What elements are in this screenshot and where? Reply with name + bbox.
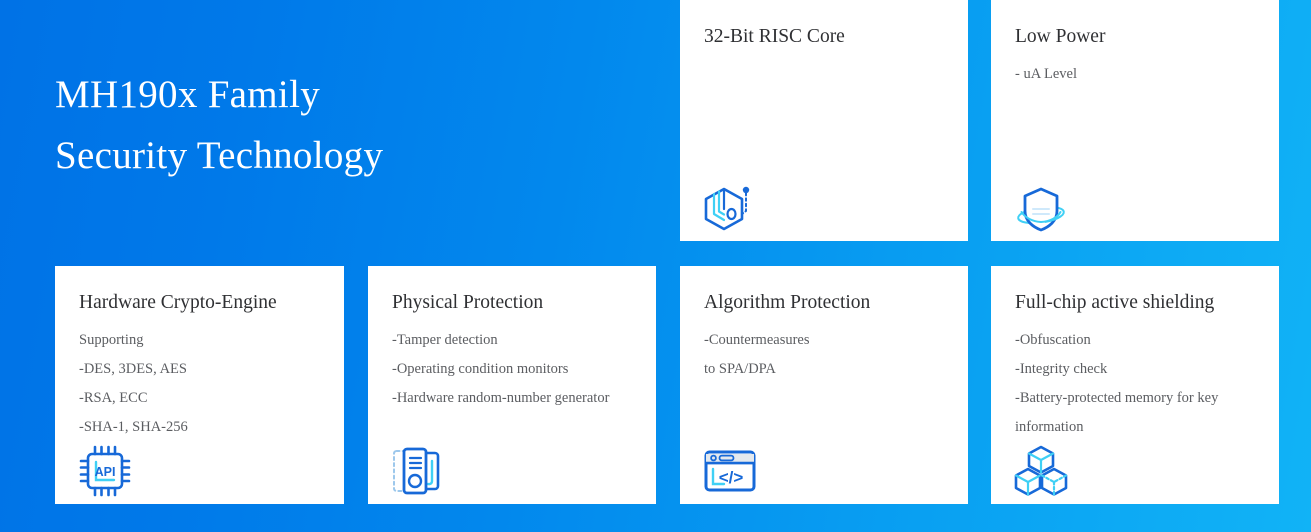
card-title: Hardware Crypto-Engine [79,290,277,316]
card-body-line: -Obfuscation [1015,326,1267,355]
card-body: Supporting -DES, 3DES, AES -RSA, ECC -SH… [79,326,332,442]
card-body-line: -RSA, ECC [79,384,332,413]
cubes-stack-icon [1013,443,1069,499]
card-title: Physical Protection [392,290,543,316]
hero-line-2: Security Technology [55,125,635,186]
card-body-line: Supporting [79,326,332,355]
card-body-line: -Battery-protected memory for key [1015,384,1267,413]
card-hardware-crypto-engine[interactable]: Hardware Crypto-Engine Supporting -DES, … [55,266,344,504]
card-title: Full-chip active shielding [1015,290,1214,316]
card-body-line: to SPA/DPA [704,355,956,384]
card-full-chip-active-shielding[interactable]: Full-chip active shielding -Obfuscation … [991,266,1279,504]
card-title: Low Power [1015,24,1105,50]
card-body-line: information [1015,413,1267,442]
document-card-icon [390,443,446,499]
code-window-icon: </> [702,443,758,499]
card-body-line: -Operating condition monitors [392,355,644,384]
api-chip-icon: API [77,443,133,499]
svg-text:API: API [95,465,116,479]
hero-heading: MH190x Family Security Technology [55,64,635,186]
card-body-line: -SHA-1, SHA-256 [79,413,332,442]
card-risc-core[interactable]: 32-Bit RISC Core [680,0,968,241]
card-physical-protection[interactable]: Physical Protection -Tamper detection -O… [368,266,656,504]
hero-line-1: MH190x Family [55,64,635,125]
card-body: -Countermeasures to SPA/DPA [704,326,956,384]
slide-canvas: MH190x Family Security Technology 32-Bit… [0,0,1311,532]
card-body: - uA Level [1015,60,1267,89]
svg-text:</>: </> [719,468,744,487]
card-body-line: -Countermeasures [704,326,956,355]
card-low-power[interactable]: Low Power - uA Level [991,0,1279,241]
card-title: Algorithm Protection [704,290,870,316]
card-body-line: -Integrity check [1015,355,1267,384]
shield-orbit-icon [1013,181,1069,237]
card-body: -Obfuscation -Integrity check -Battery-p… [1015,326,1267,442]
card-body: -Tamper detection -Operating condition m… [392,326,644,413]
card-body-line: -Hardware random-number generator [392,384,644,413]
box-3d-icon [702,181,758,237]
card-body-line: -Tamper detection [392,326,644,355]
card-title: 32-Bit RISC Core [704,24,845,50]
card-body-line: -DES, 3DES, AES [79,355,332,384]
card-body-line: - uA Level [1015,60,1267,89]
card-algorithm-protection[interactable]: Algorithm Protection -Countermeasures to… [680,266,968,504]
